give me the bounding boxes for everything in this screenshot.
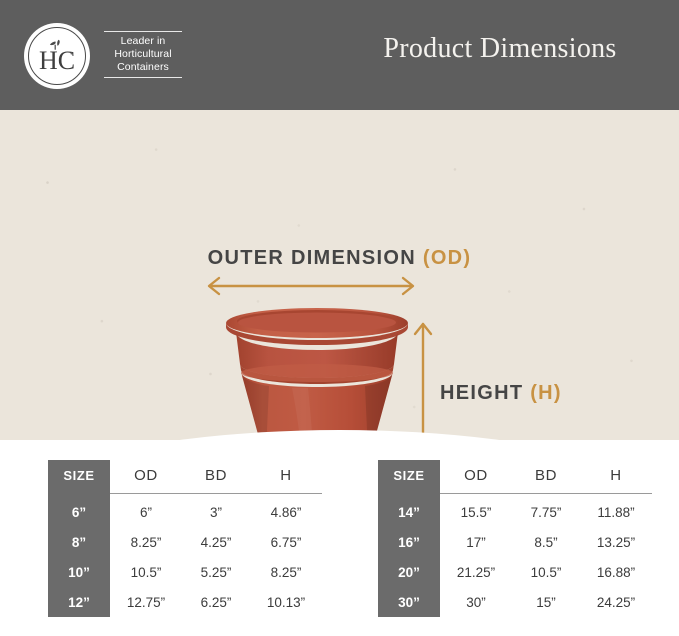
cell-od: 15.5” [440,497,512,527]
table-header-row: SIZE OD BD H [378,460,652,490]
cell-od: 8.25” [110,527,182,557]
cell-size: 12” [48,587,110,617]
tagline-line-3: Containers [102,61,184,74]
cell-bd: 7.75” [512,497,580,527]
product-dimensions-infographic: HC Leader in Horticultural Containers Pr… [0,0,679,636]
rule-size-cell [48,490,110,497]
cell-h: 13.25” [580,527,652,557]
tagline-rule-bottom [104,77,182,78]
col-header-h: H [250,460,322,490]
outer-dimension-label: OUTER DIMENSION (OD) [0,247,679,270]
logo-tagline: Leader in Horticultural Containers [102,31,184,78]
table-row: 14” 15.5” 7.75” 11.88” [378,497,652,527]
cell-h: 11.88” [580,497,652,527]
cell-h: 8.25” [250,557,322,587]
height-label: HEIGHT (H) [440,382,562,405]
cell-h: 24.25” [580,587,652,617]
cell-od: 6” [110,497,182,527]
brand-logo: HC Leader in Horticultural Containers [24,23,184,89]
height-code: (H) [530,382,562,404]
rule-size-cell [378,490,440,497]
cell-size: 8” [48,527,110,557]
cell-h: 6.75” [250,527,322,557]
table-row: 6” 6” 3” 4.86” [48,497,322,527]
diagram-panel: OUTER DIMENSION (OD) [0,110,679,440]
tagline-rule-top [104,31,182,32]
cell-size: 16” [378,527,440,557]
outer-dimension-code: (OD) [423,247,472,269]
table-row: 10” 10.5” 5.25” 8.25” [48,557,322,587]
col-header-h: H [580,460,652,490]
spec-table-large: SIZE OD BD H 14” 15.5” 7.75” 11.88” [378,460,652,617]
cell-h: 4.86” [250,497,322,527]
table-row: 12” 12.75” 6.25” 10.13” [48,587,322,617]
table-row: 20” 21.25” 10.5” 16.88” [378,557,652,587]
cell-size: 14” [378,497,440,527]
cell-size: 20” [378,557,440,587]
col-header-size: SIZE [48,460,110,490]
cell-bd: 6.25” [182,587,250,617]
cell-od: 30” [440,587,512,617]
table-head: SIZE OD BD H [48,460,322,490]
table-row: 30” 30” 15” 24.25” [378,587,652,617]
col-header-size: SIZE [378,460,440,490]
page-title: Product Dimensions [330,33,670,65]
table-body: 6” 6” 3” 4.86” 8” 8.25” 4.25” 6.75” 10” … [48,490,322,617]
cell-od: 10.5” [110,557,182,587]
header-rule-row [48,490,322,497]
col-header-bd: BD [182,460,250,490]
col-header-od: OD [440,460,512,490]
tagline-line-1: Leader in [102,35,184,48]
cell-od: 12.75” [110,587,182,617]
cell-bd: 5.25” [182,557,250,587]
table-row: 16” 17” 8.5” 13.25” [378,527,652,557]
cell-size: 30” [378,587,440,617]
outer-dimension-arrow-icon [200,275,422,297]
height-arrow-icon [412,315,434,440]
tagline-line-2: Horticultural [102,48,184,61]
cell-bd: 8.5” [512,527,580,557]
cell-size: 6” [48,497,110,527]
outer-dimension-text: OUTER DIMENSION [208,247,416,269]
logo-monogram-text: HC [39,46,75,75]
cell-bd: 4.25” [182,527,250,557]
height-text: HEIGHT [440,382,523,404]
table-header-row: SIZE OD BD H [48,460,322,490]
col-header-bd: BD [512,460,580,490]
cell-bd: 3” [182,497,250,527]
cell-od: 17” [440,527,512,557]
table-body: 14” 15.5” 7.75” 11.88” 16” 17” 8.5” 13.2… [378,490,652,617]
header-rule [110,490,322,497]
header-bar: HC Leader in Horticultural Containers Pr… [0,0,679,110]
logo-monogram-hc: HC [24,23,90,89]
cell-bd: 10.5” [512,557,580,587]
cell-size: 10” [48,557,110,587]
header-rule [440,490,652,497]
cell-bd: 15” [512,587,580,617]
cell-h: 16.88” [580,557,652,587]
cell-h: 10.13” [250,587,322,617]
table-row: 8” 8.25” 4.25” 6.75” [48,527,322,557]
cell-od: 21.25” [440,557,512,587]
specification-tables: SIZE OD BD H 6” 6” 3” 4.86” 8” [0,460,679,636]
planter-pot-illustration [222,306,412,440]
spec-table-small: SIZE OD BD H 6” 6” 3” 4.86” 8” [48,460,322,617]
col-header-od: OD [110,460,182,490]
table-head: SIZE OD BD H [378,460,652,490]
header-rule-row [378,490,652,497]
